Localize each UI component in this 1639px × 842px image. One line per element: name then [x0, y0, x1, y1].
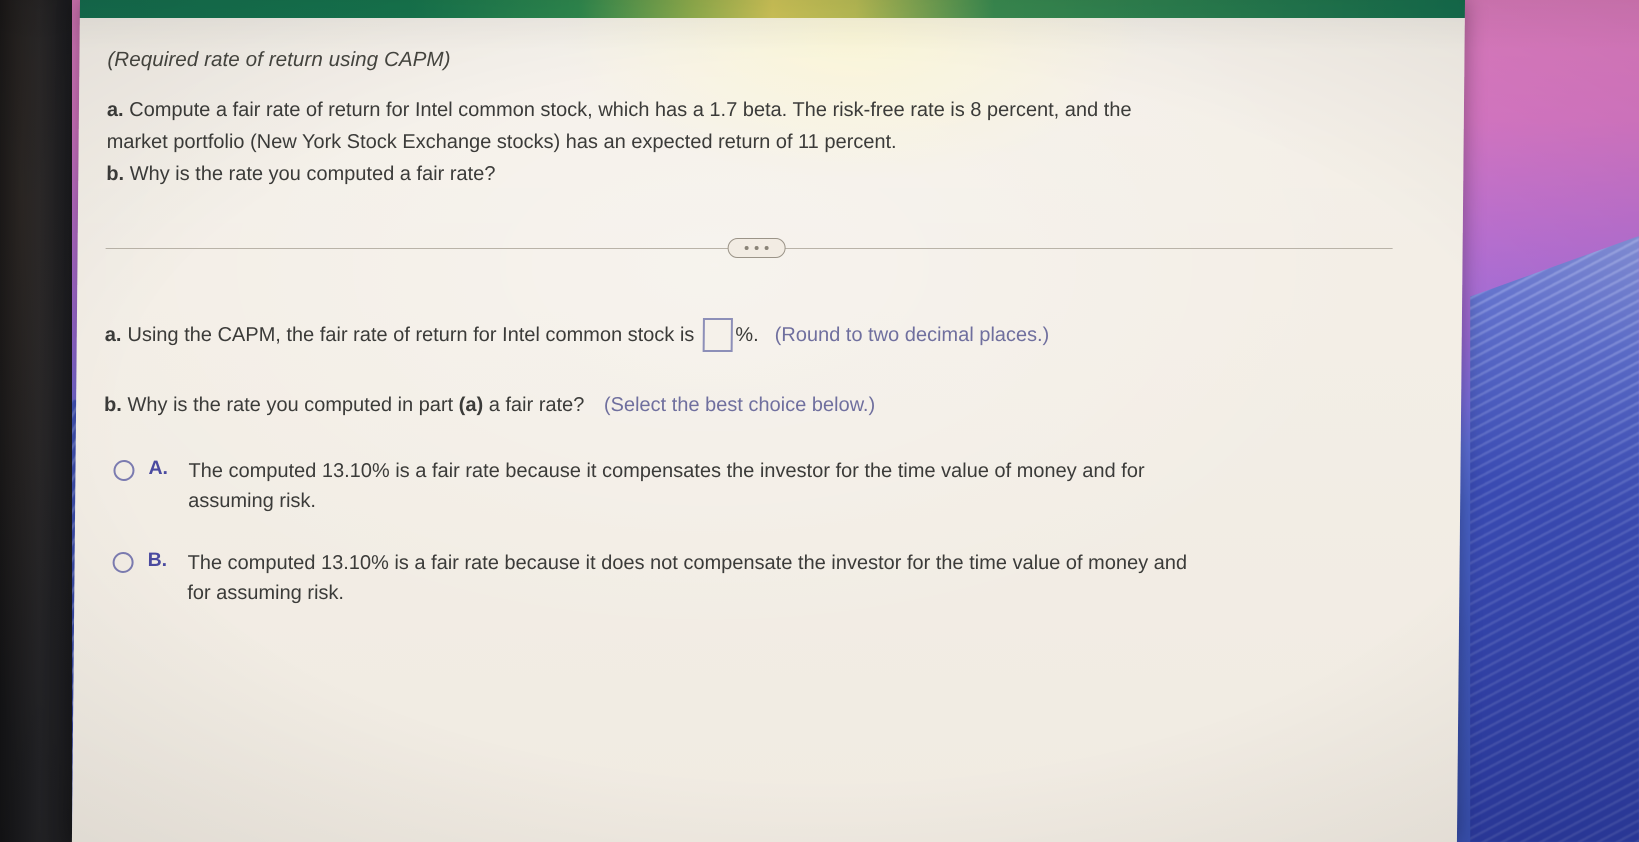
question-part-a-text: Compute a fair rate of return for Intel … — [129, 99, 1132, 121]
answer-part-b-prompt-1: Why is the rate you computed in part — [127, 394, 453, 416]
ellipsis-dot-icon — [755, 246, 759, 250]
rounding-hint: (Round to two decimal places.) — [775, 320, 1050, 350]
monitor-bezel-left — [0, 0, 72, 842]
choice-text: The computed 13.10% is a fair rate becau… — [188, 456, 1145, 516]
question-title: (Required rate of return using CAPM) — [107, 48, 1424, 72]
choice-text-line1: The computed 13.10% is a fair rate becau… — [187, 552, 1187, 574]
question-part-a-text-line2: market portfolio (New York Stock Exchang… — [106, 126, 1406, 158]
ellipsis-dot-icon — [765, 246, 769, 250]
more-options-pill-button[interactable] — [728, 238, 786, 258]
rate-of-return-input[interactable] — [702, 318, 732, 352]
window-titlebar — [80, 0, 1465, 18]
choice-text-line2: for assuming risk. — [187, 578, 1187, 608]
answer-part-b-label: b. — [104, 394, 122, 416]
ellipsis-dot-icon — [745, 246, 749, 250]
question-content: (Required rate of return using CAPM) a. … — [74, 18, 1465, 608]
percent-symbol: %. — [735, 320, 759, 350]
question-part-b-text: Why is the rate you computed a fair rate… — [130, 163, 496, 185]
choice-text-line1: The computed 13.10% is a fair rate becau… — [188, 460, 1144, 482]
select-choice-hint: (Select the best choice below.) — [604, 394, 875, 416]
browser-window: (Required rate of return using CAPM) a. … — [72, 0, 1465, 842]
question-page: (Required rate of return using CAPM) a. … — [72, 18, 1465, 842]
answer-part-b-row: b. Why is the rate you computed in part … — [104, 390, 1421, 420]
answer-part-b-reference: (a) — [459, 394, 484, 416]
answer-part-a-row: a. Using the CAPM, the fair rate of retu… — [105, 318, 1422, 352]
radio-button-icon[interactable] — [113, 460, 134, 481]
choice-option-b[interactable]: B. The computed 13.10% is a fair rate be… — [102, 546, 1420, 608]
choice-list: A. The computed 13.10% is a fair rate be… — [102, 454, 1420, 608]
radio-button-icon[interactable] — [112, 552, 133, 573]
wallpaper-mountain-ridge-right — [1470, 236, 1639, 842]
choice-letter: B. — [148, 549, 188, 572]
answer-part-a-label: a. — [105, 320, 122, 350]
question-body: a. Compute a fair rate of return for Int… — [106, 94, 1407, 190]
section-separator — [106, 236, 1423, 260]
question-part-b-label: b. — [106, 163, 124, 185]
choice-text-line2: assuming risk. — [188, 486, 1144, 516]
photographed-screen-scene: (Required rate of return using CAPM) a. … — [0, 0, 1639, 842]
choice-letter: A. — [148, 457, 188, 480]
answer-part-b-prompt-2: a fair rate? — [489, 394, 585, 416]
choice-option-a[interactable]: A. The computed 13.10% is a fair rate be… — [103, 454, 1421, 516]
choice-text: The computed 13.10% is a fair rate becau… — [187, 548, 1187, 608]
question-part-a-label: a. — [107, 99, 124, 121]
answer-part-a-prompt: Using the CAPM, the fair rate of return … — [127, 320, 694, 350]
